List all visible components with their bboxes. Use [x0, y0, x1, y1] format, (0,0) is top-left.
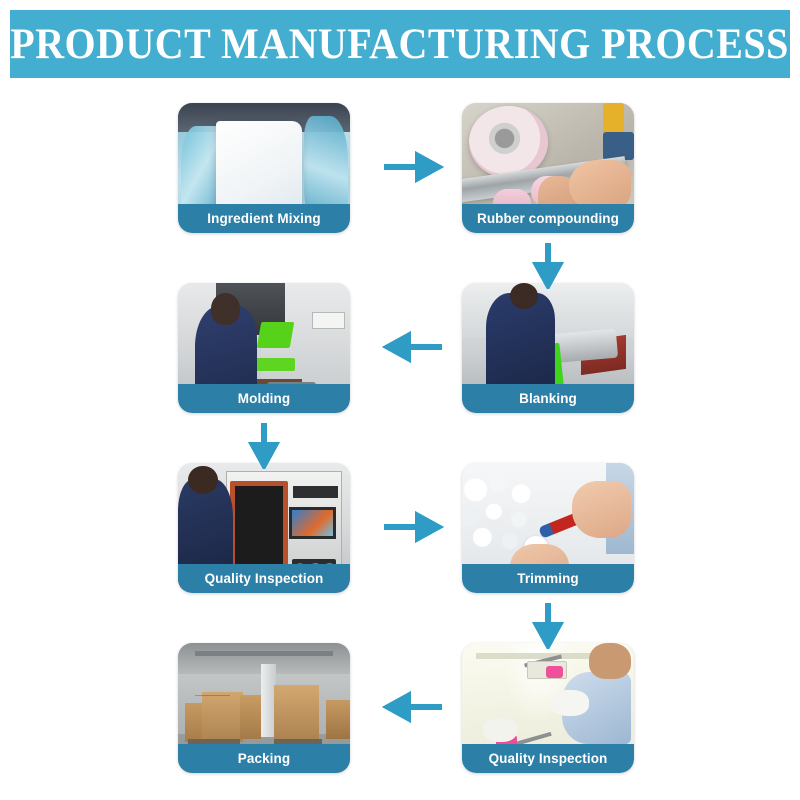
arrow-left-icon-blanking-to-molding: [382, 330, 444, 364]
step-label-bar: Quality Inspection: [178, 564, 350, 593]
process-step-card-blanking[interactable]: Blanking: [462, 283, 634, 413]
step-label-bar: Ingredient Mixing: [178, 204, 350, 233]
header-banner: PRODUCT MANUFACTURING PROCESS: [10, 10, 790, 78]
step-label-bar: Trimming: [462, 564, 634, 593]
step-label-text: Packing: [238, 751, 290, 766]
step-label-text: Blanking: [519, 391, 577, 406]
arrow-down-icon-trimming-to-quality-inspection: [531, 601, 565, 649]
step-label-text: Quality Inspection: [489, 751, 608, 766]
step-label-bar: Blanking: [462, 384, 634, 413]
step-label-text: Rubber compounding: [477, 211, 619, 226]
process-flow-diagram: Ingredient Mixing Rubber compounding Bla…: [0, 86, 800, 800]
process-step-card-packing[interactable]: Packing: [178, 643, 350, 773]
arrow-right-icon-quality-inspection-to-trimming: [382, 510, 444, 544]
process-step-card-trimming[interactable]: Trimming: [462, 463, 634, 593]
arrow-down-icon-compounding-to-blanking: [531, 241, 565, 289]
process-step-card-ingredient-mixing[interactable]: Ingredient Mixing: [178, 103, 350, 233]
step-label-bar: Packing: [178, 744, 350, 773]
arrow-right-icon-mixing-to-compounding: [382, 150, 444, 184]
step-label-text: Ingredient Mixing: [207, 211, 320, 226]
page-title: PRODUCT MANUFACTURING PROCESS: [11, 23, 790, 66]
step-label-bar: Quality Inspection: [462, 744, 634, 773]
step-label-text: Molding: [238, 391, 290, 406]
arrow-left-icon-quality-inspection-to-packing: [382, 690, 444, 724]
step-label-text: Trimming: [517, 571, 579, 586]
process-step-card-rubber-compounding[interactable]: Rubber compounding: [462, 103, 634, 233]
process-step-card-molding[interactable]: Molding: [178, 283, 350, 413]
process-step-card-quality-inspection-2[interactable]: Quality Inspection: [462, 643, 634, 773]
process-step-card-quality-inspection-1[interactable]: Quality Inspection: [178, 463, 350, 593]
step-label-bar: Molding: [178, 384, 350, 413]
arrow-down-icon-molding-to-quality-inspection: [247, 421, 281, 469]
step-label-text: Quality Inspection: [205, 571, 324, 586]
step-label-bar: Rubber compounding: [462, 204, 634, 233]
